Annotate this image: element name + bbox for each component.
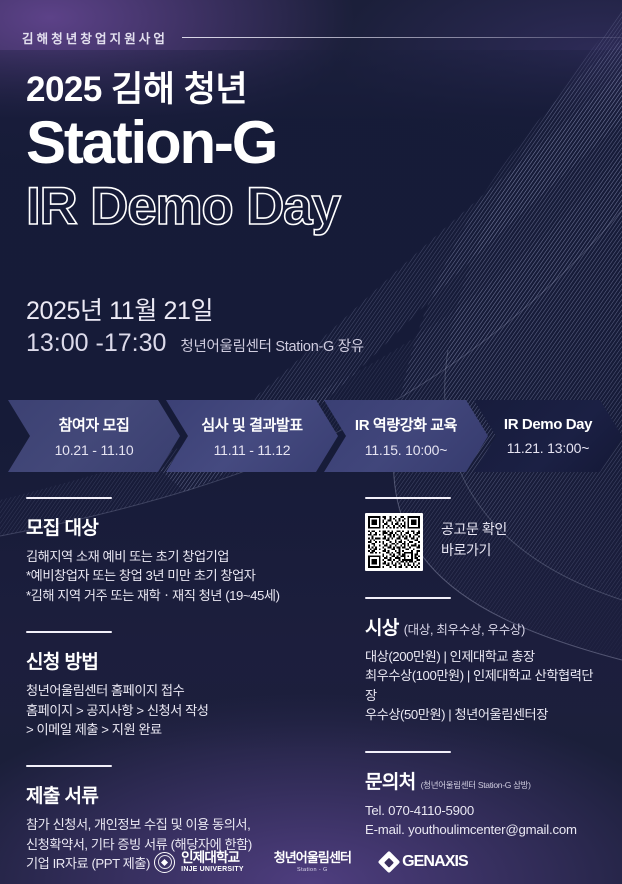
event-venue: 청년어울림센터 Station-G 장유 (180, 335, 363, 356)
section-awards-line-2: 최우수상(100만원) | 인제대학교 산학협력단장 (365, 666, 600, 705)
inje-name-en: INJE UNIVERSITY (181, 866, 244, 873)
section-apply-title: 신청 방법 (26, 647, 98, 674)
section-awards-subtitle: (대상, 최우수상, 우수상) (404, 619, 525, 638)
section-apply-heading: 신청 방법 (26, 647, 336, 674)
timeline-step-3-date: 11.15. 10:00~ (365, 442, 447, 458)
section-awards-line-3: 우수상(50만원) | 청년어울림센터장 (365, 705, 600, 724)
section-awards: 시상 (대상, 최우수상, 우수상) 대상(200만원) | 인제대학교 총장 … (365, 597, 600, 725)
title-block: 2025 김해 청년 Station-G IR Demo Day (26, 72, 340, 235)
qr-label-group: 공고문 확인 바로가기 (441, 513, 507, 561)
genaxis-wordmark: GENAXIS (402, 853, 468, 871)
section-contact-title: 문의처 (365, 767, 416, 794)
section-target-line-2: *예비창업자 또는 창업 3년 미만 초기 창업자 (26, 566, 336, 585)
section-divider (365, 751, 451, 753)
timeline-step-2-label: 심사 및 결과발표 (201, 414, 302, 435)
section-apply-line-2: 홈페이지 > 공지사항 > 신청서 작성 (26, 701, 336, 720)
section-awards-line-1: 대상(200만원) | 인제대학교 총장 (365, 647, 600, 666)
logo-inje-university: 인제대학교 INJE UNIVERSITY (154, 851, 244, 874)
timeline-step-3[interactable]: IR 역량강화 교육 11.15. 10:00~ (324, 400, 488, 472)
eyebrow-row: 김해청년창업지원사업 (22, 28, 622, 47)
contact-email[interactable]: E-mail. youthoulimcenter@gmail.com (365, 820, 600, 839)
section-documents-line-1: 참가 신청서, 개인정보 수집 및 이용 동의서, (26, 815, 336, 834)
qr-row[interactable]: 공고문 확인 바로가기 (365, 513, 600, 571)
section-contact-subtitle: (청년어울림센터 Station-G 삼방) (421, 779, 531, 791)
section-apply: 신청 방법 청년어울림센터 홈페이지 접수 홈페이지 > 공지사항 > 신청서 … (26, 631, 336, 739)
event-date: 2025년 11월 21일 (26, 295, 364, 327)
timeline-chevrons: 참여자 모집 10.21 - 11.10 심사 및 결과발표 11.11 - 1… (0, 400, 622, 472)
timeline-step-2[interactable]: 심사 및 결과발표 11.11 - 11.12 (166, 400, 338, 472)
section-qr: 공고문 확인 바로가기 (365, 497, 600, 571)
section-apply-line-3: > 이메일 제출 > 지원 완료 (26, 720, 336, 739)
logo-genaxis: GENAXIS (381, 853, 468, 871)
section-target-line-1: 김해지역 소재 예비 또는 초기 창업기업 (26, 547, 336, 566)
timeline-step-2-date: 11.11 - 11.12 (214, 442, 291, 458)
inje-seal-icon (154, 852, 175, 873)
poster-canvas: 김해청년창업지원사업 2025 김해 청년 Station-G IR Demo … (0, 0, 622, 884)
timeline-step-1[interactable]: 참여자 모집 10.21 - 11.10 (8, 400, 180, 472)
section-divider (26, 497, 112, 499)
spacer (26, 605, 336, 631)
content-column-left: 모집 대상 김해지역 소재 예비 또는 초기 창업기업 *예비창업자 또는 창업… (26, 497, 336, 874)
inje-name-kr: 인제대학교 (181, 851, 244, 865)
timeline-step-4[interactable]: IR Demo Day 11.21. 13:00~ (474, 400, 622, 472)
logo-youth-ourlim-center: 청년어울림센터 Station - G (274, 851, 351, 874)
section-contact: 문의처 (청년어울림센터 Station-G 삼방) Tel. 070-4110… (365, 751, 600, 840)
spacer (26, 739, 336, 765)
qr-code-icon[interactable] (365, 513, 423, 571)
genaxis-diamond-icon (378, 851, 401, 874)
inje-wordmark: 인제대학교 INJE UNIVERSITY (181, 851, 244, 874)
footer-logos: 인제대학교 INJE UNIVERSITY 청년어울림센터 Station - … (0, 840, 622, 884)
section-divider (365, 497, 451, 499)
section-documents-title: 제출 서류 (26, 781, 98, 808)
title-line-3: IR Demo Day (26, 179, 340, 235)
timeline-step-1-date: 10.21 - 11.10 (55, 442, 134, 458)
section-awards-title: 시상 (365, 613, 399, 640)
section-documents-heading: 제출 서류 (26, 781, 336, 808)
event-time-row: 13:00 -17:30 청년어울림센터 Station-G 장유 (26, 329, 364, 358)
ourlim-name-kr: 청년어울림센터 (274, 851, 351, 864)
eyebrow-text: 김해청년창업지원사업 (22, 28, 168, 47)
qr-label-line-1: 공고문 확인 (441, 519, 507, 540)
title-line-1: 2025 김해 청년 (26, 72, 340, 109)
section-contact-heading: 문의처 (청년어울림센터 Station-G 삼방) (365, 767, 600, 794)
timeline-step-4-date: 11.21. 13:00~ (507, 440, 589, 456)
section-target-line-3: *김해 지역 거주 또는 재학ㆍ재직 청년 (19~45세) (26, 586, 336, 605)
event-time: 13:00 -17:30 (26, 329, 166, 358)
contact-phone[interactable]: Tel. 070-4110-5900 (365, 801, 600, 820)
ourlim-name-en: Station - G (274, 868, 351, 874)
section-divider (26, 631, 112, 633)
section-divider (26, 765, 112, 767)
timeline-step-1-label: 참여자 모집 (59, 414, 130, 435)
timeline-step-4-label: IR Demo Day (504, 416, 592, 433)
section-divider (365, 597, 451, 599)
timeline-step-3-label: IR 역량강화 교육 (355, 414, 457, 435)
title-line-2: Station-G (26, 113, 340, 173)
section-target-title: 모집 대상 (26, 513, 98, 540)
section-target-heading: 모집 대상 (26, 513, 336, 540)
section-apply-line-1: 청년어울림센터 홈페이지 접수 (26, 681, 336, 700)
schedule-block: 2025년 11월 21일 13:00 -17:30 청년어울림센터 Stati… (26, 295, 364, 358)
spacer (365, 725, 600, 751)
spacer (365, 571, 600, 597)
eyebrow-divider (182, 37, 622, 38)
content-column-right: 공고문 확인 바로가기 시상 (대상, 최우수상, 우수상) 대상(200만원)… (365, 497, 600, 839)
qr-label-line-2: 바로가기 (441, 540, 507, 561)
section-awards-heading: 시상 (대상, 최우수상, 우수상) (365, 613, 600, 640)
section-target: 모집 대상 김해지역 소재 예비 또는 초기 창업기업 *예비창업자 또는 창업… (26, 497, 336, 605)
